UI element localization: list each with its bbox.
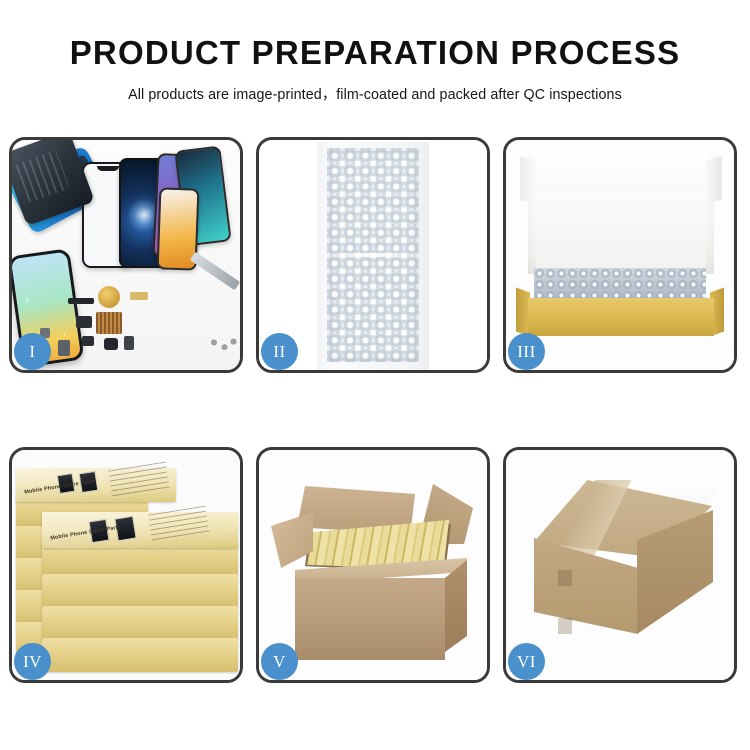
steps-grid: I II III xyxy=(9,137,741,683)
connector-part-icon xyxy=(130,292,148,300)
kraft-box-front-icon xyxy=(528,298,714,336)
camera-part-icon xyxy=(76,316,92,328)
open-carton-image xyxy=(259,450,487,680)
sealed-carton-image xyxy=(506,450,734,680)
header: PRODUCT PREPARATION PROCESS All products… xyxy=(0,0,750,104)
sim-tray-part-icon xyxy=(58,340,70,356)
stacked-boxes-image: Mobile Phone Spare Parts Mobile Phone Sp… xyxy=(12,450,240,680)
ic-chip-part-icon xyxy=(124,336,134,350)
tweezers-icon xyxy=(190,252,240,290)
bubble-wrap-seam-icon xyxy=(325,253,421,257)
grill-mesh-part-icon xyxy=(96,312,122,334)
stacked-box xyxy=(42,574,238,608)
step-badge-6: VI xyxy=(508,643,545,680)
button-part-icon xyxy=(82,336,94,346)
inner-box-image xyxy=(506,140,734,370)
step-panel-2: II xyxy=(256,137,490,373)
carton-seam-icon xyxy=(558,570,572,586)
step-badge-1: I xyxy=(14,333,51,370)
stacked-box xyxy=(42,606,238,640)
carton-seam-icon xyxy=(558,618,572,634)
bubble-wrap-image xyxy=(259,140,487,370)
foam-sheet-icon xyxy=(536,192,706,268)
phone-parts-image xyxy=(12,140,240,370)
step-panel-1: I xyxy=(9,137,243,373)
bubble-wrapped-product-icon xyxy=(534,268,706,300)
step-badge-5: V xyxy=(261,643,298,680)
step-panel-4: Mobile Phone Spare Parts Mobile Phone Sp… xyxy=(9,447,243,683)
stacked-box xyxy=(42,638,238,672)
step-panel-3: III xyxy=(503,137,737,373)
product-preparation-infographic: PRODUCT PREPARATION PROCESS All products… xyxy=(0,0,750,750)
step-panel-5: V xyxy=(256,447,490,683)
page-title: PRODUCT PREPARATION PROCESS xyxy=(0,34,750,72)
screws-group-icon xyxy=(208,336,238,352)
vibrator-part-icon xyxy=(104,338,118,350)
step-badge-4: IV xyxy=(14,643,51,680)
step-badge-2: II xyxy=(261,333,298,370)
speaker-part-icon xyxy=(98,286,120,308)
box-stack: Mobile Phone Spare Parts Mobile Phone Sp… xyxy=(12,450,240,680)
flex-cable-part-icon xyxy=(68,298,94,304)
step-panel-6: VI xyxy=(503,447,737,683)
step-badge-3: III xyxy=(508,333,545,370)
carton-front-icon xyxy=(295,578,445,660)
carton-right-side-icon xyxy=(445,560,467,652)
page-subtitle: All products are image-printed，film-coat… xyxy=(0,83,750,104)
